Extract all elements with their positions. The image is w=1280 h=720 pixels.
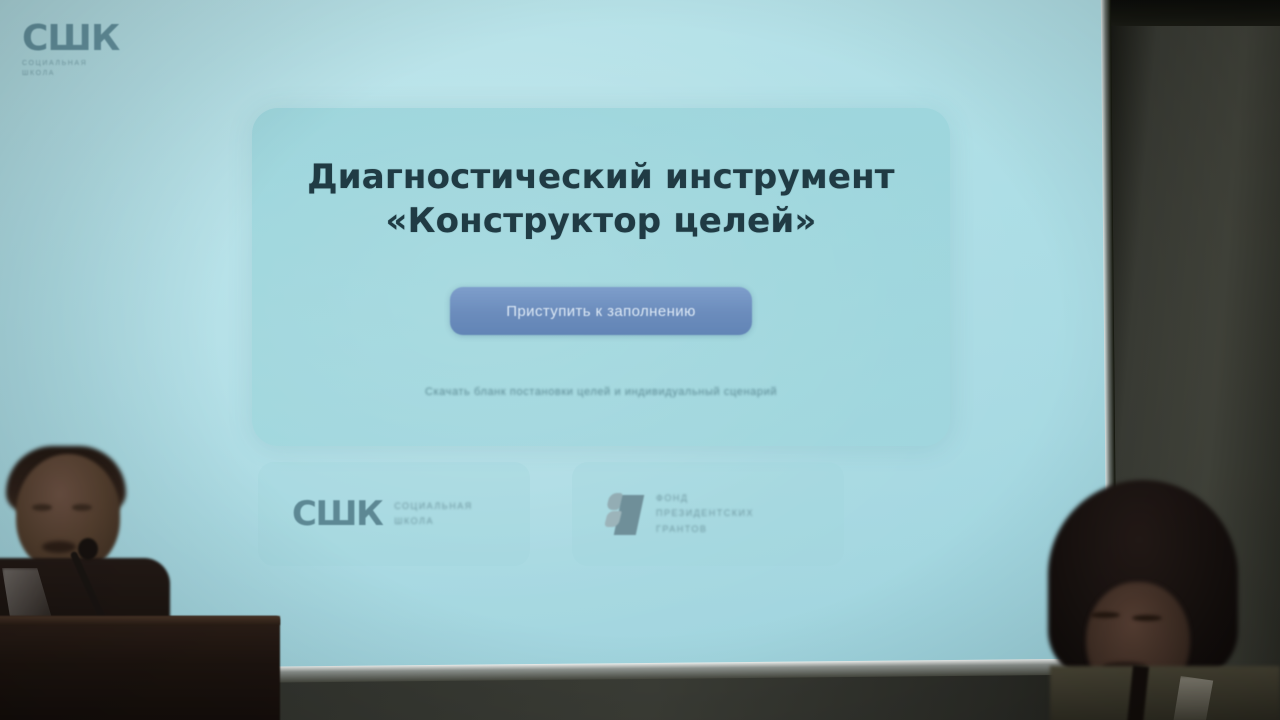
- slide-corner-logo: СШК СОЦИАЛЬНАЯ ШКОЛА: [22, 22, 162, 79]
- sponsor-sshk-line1: СОЦИАЛЬНАЯ: [394, 499, 472, 514]
- sponsor-fund-line3: ГРАНТОВ: [656, 522, 754, 537]
- attendee-foreground: [1020, 470, 1280, 720]
- sshk-logo-subtitle-line1: СОЦИАЛЬНАЯ: [22, 59, 162, 69]
- presenter-at-podium: [0, 446, 310, 720]
- podium: [0, 616, 280, 720]
- sponsor-panel-grants-fund: ФОНД ПРЕЗИДЕНТСКИХ ГРАНТОВ: [572, 462, 844, 566]
- photo-scene: СШК СОЦИАЛЬНАЯ ШКОЛА Диагностический инс…: [0, 0, 1280, 720]
- presenter-eye-left: [32, 504, 52, 511]
- sponsor-sshk-text: СОЦИАЛЬНАЯ ШКОЛА: [394, 499, 472, 530]
- presenter-head: [16, 454, 120, 572]
- presenter-eye-right: [72, 504, 92, 511]
- sponsor-strip: СШК СОЦИАЛЬНАЯ ШКОЛА ФОНД ПРЕЗИДЕНТСКИХ …: [258, 462, 844, 566]
- download-template-hint[interactable]: Скачать бланк постановки целей и индивид…: [252, 386, 950, 398]
- slide-title-line-1: Диагностический инструмент: [252, 156, 950, 200]
- attendee-brow-left: [1090, 612, 1120, 618]
- sponsor-fund-line2: ПРЕЗИДЕНТСКИХ: [656, 506, 754, 521]
- slide-title: Диагностический инструмент «Конструктор …: [252, 156, 950, 243]
- attendee-torso: [1050, 666, 1280, 720]
- start-filling-button[interactable]: Приступить к заполнению: [450, 287, 752, 335]
- sshk-logo-subtitle-line2: ШКОЛА: [22, 69, 162, 79]
- microphone-head-icon: [78, 538, 98, 560]
- sponsor-grants-fund-text: ФОНД ПРЕЗИДЕНТСКИХ ГРАНТОВ: [656, 491, 754, 537]
- presenter-mouth: [42, 541, 76, 553]
- sponsor-fund-line1: ФОНД: [656, 491, 754, 506]
- sshk-logo-mark: СШК: [22, 22, 162, 56]
- sponsor-sshk-line2: ШКОЛА: [394, 514, 472, 529]
- presidential-grants-fund-icon: [606, 491, 644, 537]
- attendee-brow-right: [1132, 615, 1162, 621]
- slide-main-card: Диагностический инструмент «Конструктор …: [252, 108, 950, 446]
- sshk-logo-subtitle: СОЦИАЛЬНАЯ ШКОЛА: [22, 59, 162, 79]
- slide-title-line-2: «Конструктор целей»: [252, 200, 950, 244]
- podium-top-edge: [0, 616, 280, 625]
